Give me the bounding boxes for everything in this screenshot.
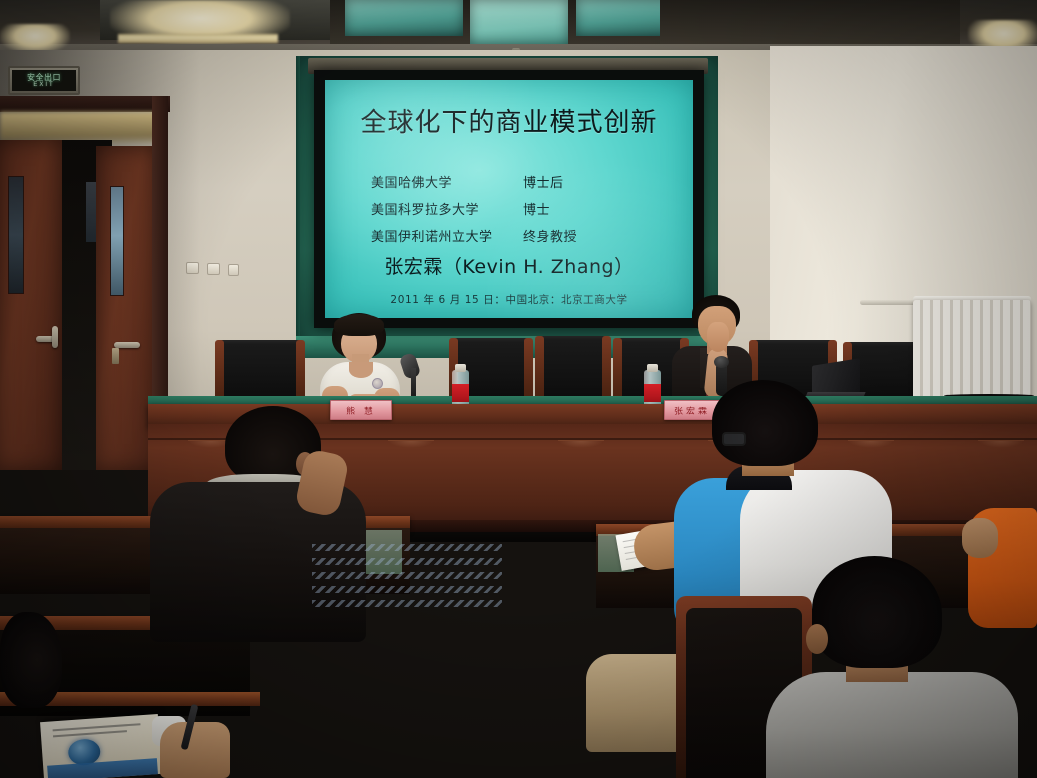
water-bottle-left-label [452,384,469,402]
audience-orange-shirt-arm [962,518,998,558]
slide-credentials-list: 美国哈佛大学 博士后 美国科罗拉多大学 博士 美国伊利诺州立大学 终身教授 [371,172,671,253]
audience-front-left-hair [0,612,62,708]
audience-grey-tshirt [766,672,1018,778]
projected-slide: 全球化下的商业模式创新 美国哈佛大学 博士后 美国科罗拉多大学 博士 美国伊利诺… [325,80,693,318]
book[interactable] [40,714,162,778]
radiator-pipe [860,300,916,305]
credential-degree: 博士后 [523,172,564,191]
exit-sign-english-text: EXIT [33,82,54,88]
door-lock-right[interactable] [112,348,119,364]
credential-degree: 终身教授 [523,226,577,245]
name-placard-left-text: 熊 慧 [346,404,376,416]
moderator-hair-front [334,314,384,336]
water-bottle-left-cap [455,364,466,372]
ceiling-panel-right-dark [660,0,960,44]
projection-screen-frame: 全球化下的商业模式创新 美国哈佛大学 博士后 美国科罗拉多大学 博士 美国伊利诺… [314,70,704,328]
slide-speaker-name: 张宏霖（Kevin H. Zhang） [325,252,693,279]
speaker-hand-on-face [707,322,729,352]
microphone-head-icon [714,356,729,368]
audience-grey-tshirt-hair [812,556,942,668]
slide-title: 全球化下的商业模式创新 [325,102,693,139]
slide-credential-row: 美国哈佛大学 博士后 [371,172,671,191]
credential-institution: 美国哈佛大学 [371,172,523,191]
name-placard-left: 熊 慧 [330,400,392,420]
door-glass-right [110,186,124,296]
door-glass-left [8,176,24,294]
door-leaf-left[interactable] [0,140,62,470]
wall-switch-2[interactable] [207,263,220,275]
door-frame-header [0,96,170,112]
exit-sign-chinese-text: 安全出口 [27,74,61,82]
slide-credential-row: 美国伊利诺州立大学 终身教授 [371,226,671,245]
water-bottle-right-label [644,384,661,402]
name-placard-right-text: 张宏霖 [674,404,710,416]
slide-footer-date-venue: 2011 年 6 月 15 日：中国北京：北京工商大学 [325,292,693,307]
audience-front-left-hand [160,722,230,778]
slide-credential-row: 美国科罗拉多大学 博士 [371,199,671,218]
ceiling-glass-panel-2 [470,0,568,44]
panel-chair-3[interactable] [538,336,608,402]
wall-outlet[interactable] [228,264,239,276]
ceiling-cove-light [118,34,278,43]
door-handle-left-post[interactable] [52,326,58,348]
audience-blue-shirt-hair [712,380,818,466]
ceiling-glass-panel-1 [345,0,463,36]
credential-degree: 博士 [523,199,550,218]
emergency-exit-sign: 安全出口 EXIT [8,66,80,95]
panel-chair-1[interactable] [218,340,302,404]
lecture-room-photo: 安全出口 EXIT 全球化下的商业模式创新 美国哈佛大学 博士后 美国科 [0,0,1037,778]
wall-radiator [913,300,1031,402]
credential-institution: 美国伊利诺州立大学 [371,226,523,245]
eyeglasses-icon [722,432,746,446]
book-cover-band [47,758,158,778]
moderator-collar [349,362,373,378]
water-bottle-right-cap [647,364,658,372]
audience-grey-tshirt-ear [806,624,828,654]
credential-institution: 美国科罗拉多大学 [371,199,523,218]
